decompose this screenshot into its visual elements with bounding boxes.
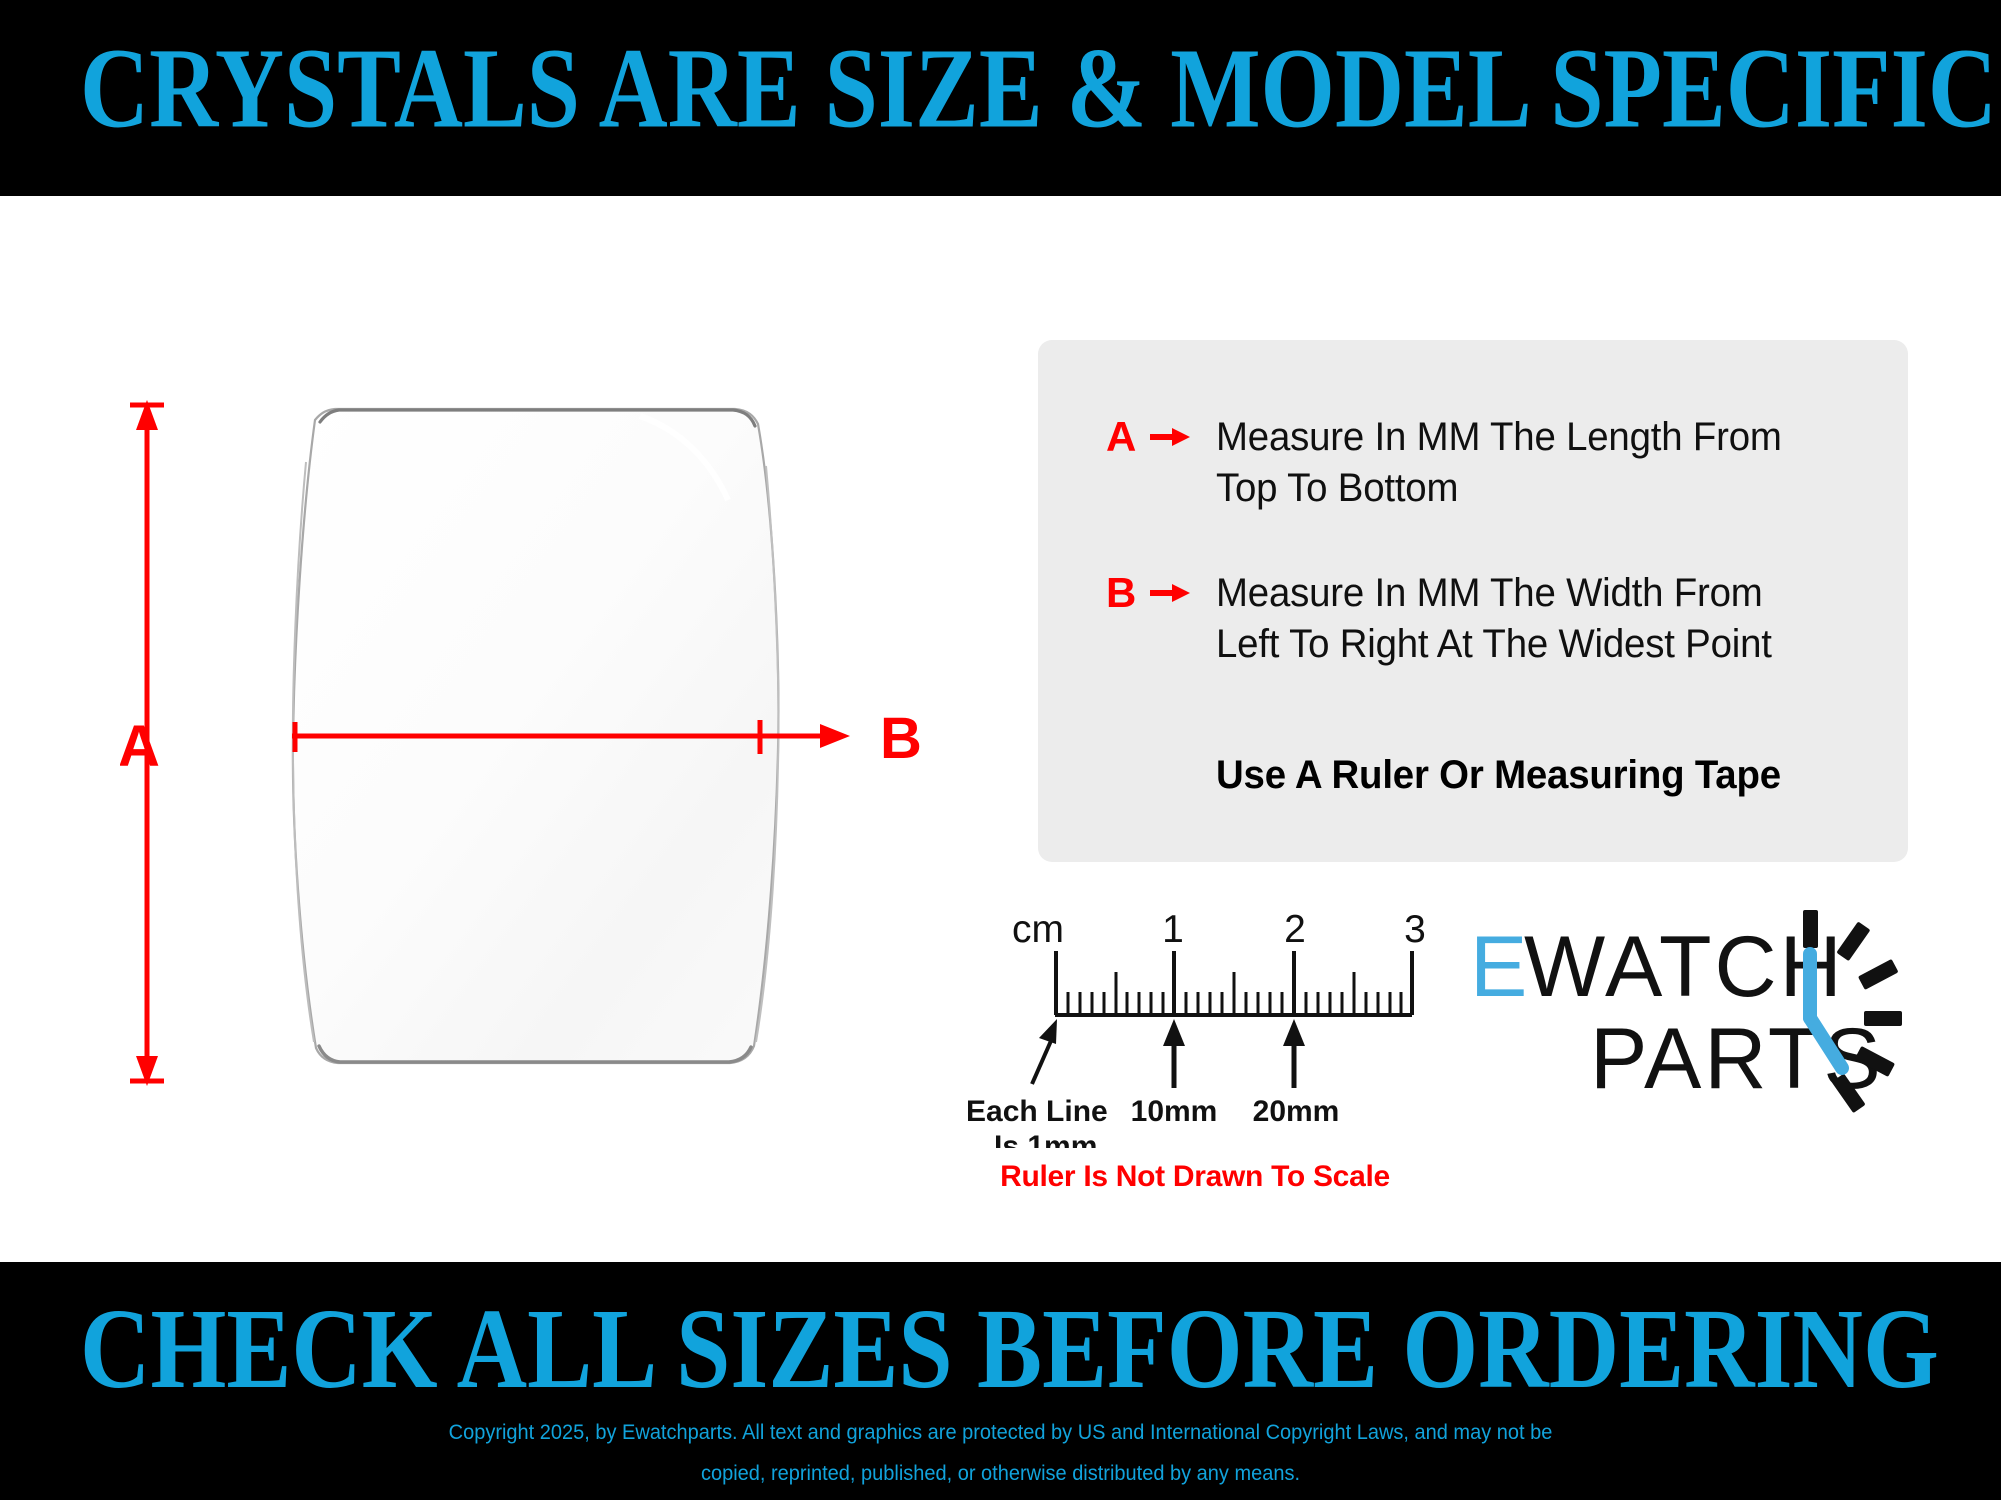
- ruler-minor-ticks: [1068, 972, 1401, 1015]
- ruler-tick-label-3: 3: [1404, 908, 1426, 951]
- instruction-marker-b: B: [1106, 568, 1216, 616]
- brand-logo-svg: E WATCH PARTS: [1470, 900, 1910, 1130]
- copyright-notice: Copyright 2025, by Ewatchparts. All text…: [70, 1412, 1931, 1494]
- instruction-row-a: A Measure In MM The Length From Top To B…: [1106, 412, 1878, 514]
- logo-word-watch: WATCH: [1524, 919, 1845, 1015]
- instruction-text-b: Measure In MM The Width From Left To Rig…: [1216, 568, 1772, 670]
- instruction-text-b-line2: Left To Right At The Widest Point: [1216, 619, 1772, 670]
- measure-label-a: A: [120, 714, 160, 779]
- marker-letter-b: B: [1106, 570, 1136, 616]
- ruler-tick-label-1: 1: [1162, 908, 1184, 951]
- arrow-right-icon: [1148, 580, 1192, 606]
- copyright-line-1: Copyright 2025, by Ewatchparts. All text…: [70, 1412, 1931, 1453]
- instruction-marker-a: A: [1106, 412, 1216, 460]
- ruler-svg: cm 1 2 3: [960, 888, 1430, 1148]
- ruler-tick-label-2: 2: [1284, 908, 1306, 951]
- crystal-diagram-svg: A B: [120, 370, 960, 1110]
- instruction-text-a: Measure In MM The Length From Top To Bot…: [1216, 412, 1782, 514]
- top-banner: CRYSTALS ARE SIZE & MODEL SPECIFIC: [0, 0, 2001, 196]
- callout-arrow-each-line-icon: [1032, 1019, 1057, 1084]
- ruler-callout-each-line-2: Is 1mm: [994, 1130, 1097, 1148]
- crystal-diagram: A B: [120, 370, 960, 1110]
- ruler-unit-label: cm: [1012, 908, 1064, 951]
- instruction-text-a-line2: Top To Bottom: [1216, 463, 1782, 514]
- ruler-callout-10mm: 10mm: [1131, 1095, 1218, 1128]
- instruction-note: Use A Ruler Or Measuring Tape: [1216, 752, 1781, 798]
- ruler-callout-each-line-1: Each Line: [966, 1095, 1108, 1128]
- arrow-right-icon: [1148, 424, 1192, 450]
- ruler-callout-20mm: 20mm: [1253, 1095, 1340, 1128]
- callout-arrow-10mm-icon: [1163, 1019, 1185, 1088]
- callout-arrow-20mm-icon: [1283, 1019, 1305, 1088]
- ruler-caption: Ruler Is Not Drawn To Scale: [960, 1160, 1430, 1194]
- marker-letter-a: A: [1106, 414, 1136, 460]
- ruler-graphic: cm 1 2 3: [960, 888, 1430, 1148]
- copyright-line-2: copied, reprinted, published, or otherwi…: [70, 1453, 1931, 1494]
- instruction-row-b: B Measure In MM The Width From Left To R…: [1106, 568, 1878, 670]
- brand-logo: E WATCH PARTS: [1470, 900, 1910, 1130]
- measure-label-b: B: [880, 706, 922, 771]
- footer-headline: CHECK ALL SIZES BEFORE ORDERING: [80, 1287, 1921, 1410]
- instruction-rows: A Measure In MM The Length From Top To B…: [1106, 412, 1878, 724]
- logo-letter-e: E: [1470, 919, 1529, 1015]
- header-headline: CRYSTALS ARE SIZE & MODEL SPECIFIC: [80, 27, 1921, 150]
- instruction-panel: A Measure In MM The Length From Top To B…: [1038, 340, 1908, 862]
- instruction-text-a-line1: Measure In MM The Length From: [1216, 412, 1782, 463]
- instruction-text-b-line1: Measure In MM The Width From: [1216, 568, 1772, 619]
